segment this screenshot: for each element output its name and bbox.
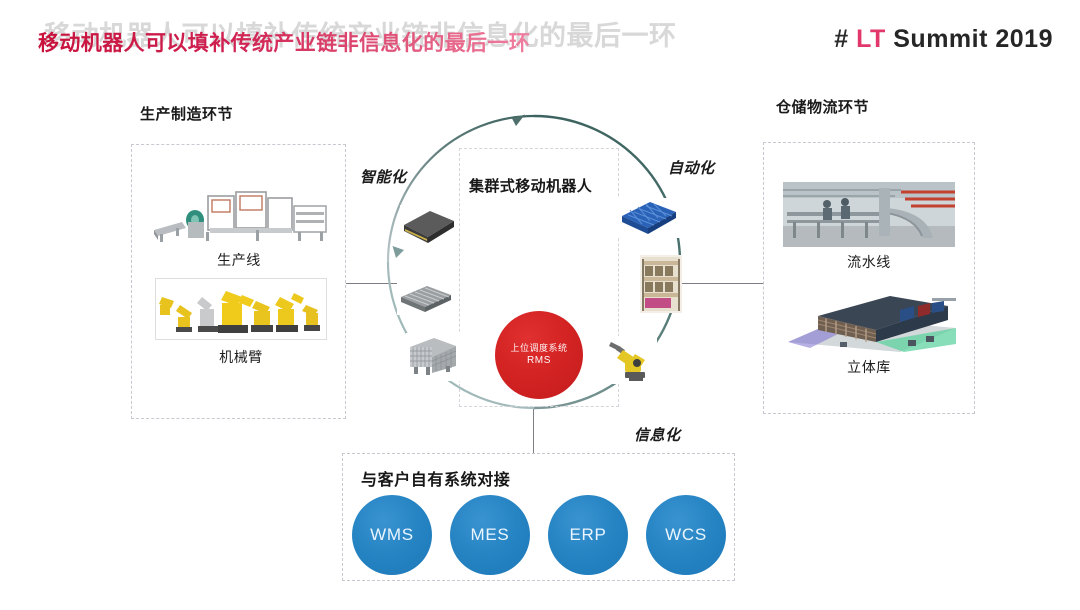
rms-label-en: RMS [527, 354, 551, 367]
system-circle-erp-label: ERP [569, 525, 606, 545]
rms-scheduling-system-badge: 上位调度系统 RMS [495, 311, 583, 399]
brand-lt-mark: LT [856, 25, 886, 53]
caption-asrs-warehouse: 立体库 [780, 357, 958, 377]
panel-title-warehouse: 仓储物流环节 [776, 96, 869, 117]
caption-conveyor-line: 流水线 [783, 252, 955, 272]
caption-robot-arm: 机械臂 [155, 347, 327, 367]
storage-shelf-photo [640, 255, 682, 313]
slide-header: 移动机器人可以填补传统产业链非信息化的最后一环 移动机器人可以填补传统产业链非信… [0, 0, 1080, 72]
system-circle-mes-label: MES [471, 525, 510, 545]
brand-hash-symbol: # [834, 25, 848, 53]
caption-production-line: 生产线 [146, 250, 332, 270]
brand-summit-label: Summit 2019 [893, 25, 1053, 53]
bottom-heading: 与客户自有系统对接 [361, 466, 510, 490]
industrial-robot-arm-photo [607, 336, 657, 384]
blue-plastic-pallet-photo [618, 198, 680, 238]
cycle-label-intelligent: 智能化 [360, 166, 407, 187]
system-circle-wms-label: WMS [370, 525, 414, 545]
wire-mesh-cage-photo [406, 333, 460, 381]
system-circle-group: WMS MES ERP WCS [352, 494, 726, 576]
dark-pallet-photo [400, 205, 458, 247]
center-heading: 集群式移动机器人 [469, 175, 592, 196]
page-title: 移动机器人可以填补传统产业链非信息化的最后一环 [38, 27, 530, 57]
cycle-label-automation: 自动化 [668, 157, 715, 178]
system-circle-mes[interactable]: MES [450, 495, 530, 575]
system-circle-wms[interactable]: WMS [352, 495, 432, 575]
brand-logo: # LT Summit 2019 [834, 25, 1053, 54]
metal-pallet-photo [397, 283, 455, 315]
system-circle-wcs-label: WCS [665, 525, 707, 545]
rms-label-cn: 上位调度系统 [510, 343, 567, 354]
system-circle-wcs[interactable]: WCS [646, 495, 726, 575]
system-circle-erp[interactable]: ERP [548, 495, 628, 575]
asrs-warehouse-photo [780, 284, 958, 354]
connector-bottom [533, 408, 534, 454]
robot-arm-photo [155, 278, 327, 340]
panel-title-manufacturing: 生产制造环节 [140, 103, 233, 124]
conveyor-line-photo [783, 182, 955, 247]
cycle-label-information: 信息化 [634, 424, 681, 445]
production-line-photo [146, 178, 332, 248]
